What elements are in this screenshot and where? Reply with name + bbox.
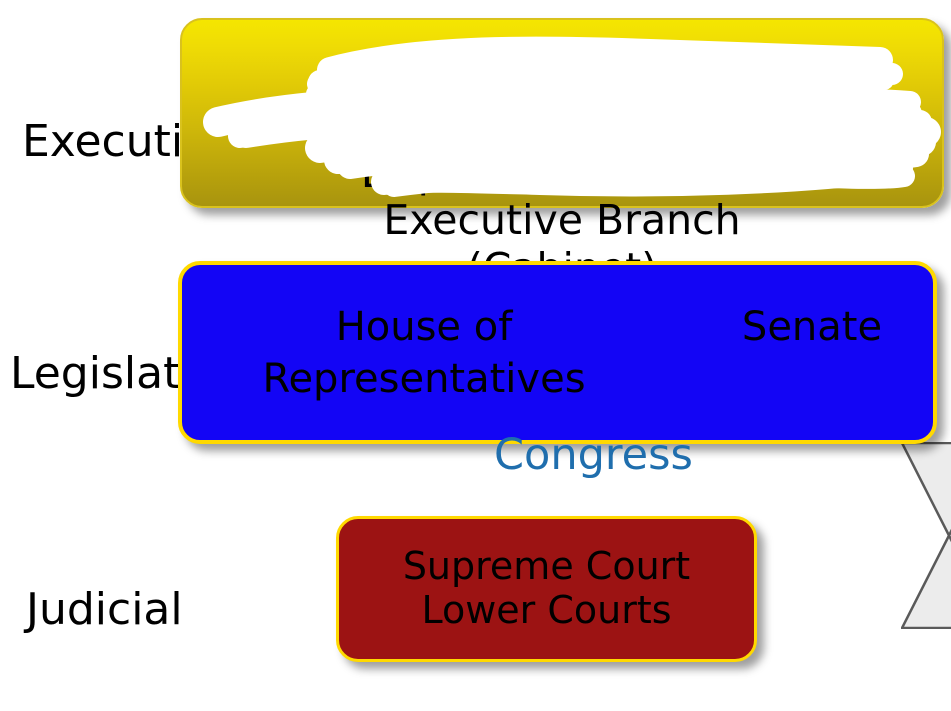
- executive-branch-text: President Vice President Departments of …: [182, 56, 942, 292]
- legislative-branch-box[interactable]: House of Representatives Senate: [178, 261, 937, 444]
- legislative-house-text: House of Representatives: [244, 301, 604, 405]
- judicial-branch-text: Supreme Court Lower Courts: [339, 545, 754, 632]
- judicial-branch-box[interactable]: Supreme Court Lower Courts: [336, 516, 757, 662]
- branch-label-judicial: Judicial: [26, 588, 183, 632]
- diagram-canvas: Executive Legislative Judicial President…: [0, 0, 951, 711]
- executive-branch-box[interactable]: President Vice President Departments of …: [180, 18, 944, 208]
- congress-caption: Congress: [494, 434, 693, 477]
- legislative-senate-text: Senate: [662, 301, 951, 353]
- hourglass-connector-icon: [901, 442, 951, 629]
